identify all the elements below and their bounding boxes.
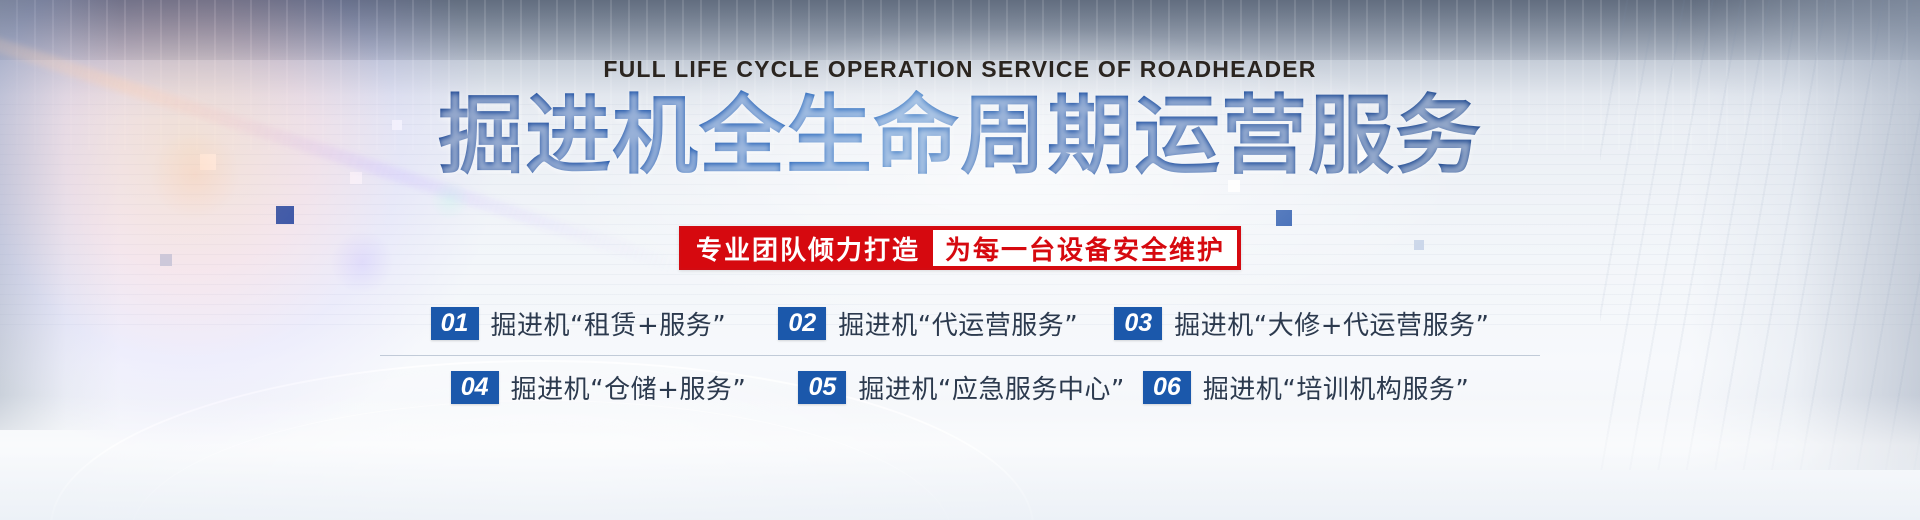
service-label-04: 掘进机“仓储+服务” bbox=[511, 369, 747, 406]
slogan-left: 专业团队倾力打造 bbox=[681, 228, 933, 268]
slogan-right: 为每一台设备安全维护 bbox=[933, 230, 1237, 266]
service-item-05[interactable]: 05 掘进机“应急服务中心” bbox=[798, 369, 1124, 406]
banner-content: FULL LIFE CYCLE OPERATION SERVICE OF ROA… bbox=[0, 0, 1920, 520]
service-list: 01 掘进机“租赁+服务” 02 掘进机“代运营服务” 03 掘进机“大修+代运… bbox=[0, 292, 1920, 419]
service-label-06: 掘进机“培训机构服务” bbox=[1203, 369, 1469, 406]
service-label-05: 掘进机“应急服务中心” bbox=[858, 369, 1124, 406]
service-number-badge-06: 06 bbox=[1143, 371, 1191, 404]
service-label-01: 掘进机“租赁+服务” bbox=[491, 305, 727, 342]
service-row-2: 04 掘进机“仓储+服务” 05 掘进机“应急服务中心” 06 掘进机“培训机构… bbox=[0, 356, 1920, 419]
service-number-badge-04: 04 bbox=[451, 371, 499, 404]
service-label-03: 掘进机“大修+代运营服务” bbox=[1174, 305, 1489, 342]
service-number-badge-05: 05 bbox=[798, 371, 846, 404]
service-row-1: 01 掘进机“租赁+服务” 02 掘进机“代运营服务” 03 掘进机“大修+代运… bbox=[380, 292, 1540, 356]
service-number-badge-01: 01 bbox=[431, 307, 479, 340]
eyebrow-english-subtitle: FULL LIFE CYCLE OPERATION SERVICE OF ROA… bbox=[0, 56, 1920, 83]
service-item-04[interactable]: 04 掘进机“仓储+服务” bbox=[451, 369, 747, 406]
service-item-03[interactable]: 03 掘进机“大修+代运营服务” bbox=[1114, 305, 1489, 342]
page-title: 掘进机全生命周期运营服务 bbox=[438, 90, 1482, 182]
service-number-badge-03: 03 bbox=[1114, 307, 1162, 340]
service-number-badge-02: 02 bbox=[778, 307, 826, 340]
service-item-01[interactable]: 01 掘进机“租赁+服务” bbox=[431, 305, 727, 342]
red-slogan-bar-inner: 专业团队倾力打造 为每一台设备安全维护 bbox=[679, 226, 1241, 270]
service-item-06[interactable]: 06 掘进机“培训机构服务” bbox=[1143, 369, 1469, 406]
red-slogan-bar: 专业团队倾力打造 为每一台设备安全维护 bbox=[0, 226, 1920, 270]
service-item-02[interactable]: 02 掘进机“代运营服务” bbox=[778, 305, 1078, 342]
service-label-02: 掘进机“代运营服务” bbox=[838, 305, 1078, 342]
headline-wrapper: 掘进机全生命周期运营服务 bbox=[0, 90, 1920, 182]
banner-root: FULL LIFE CYCLE OPERATION SERVICE OF ROA… bbox=[0, 0, 1920, 520]
